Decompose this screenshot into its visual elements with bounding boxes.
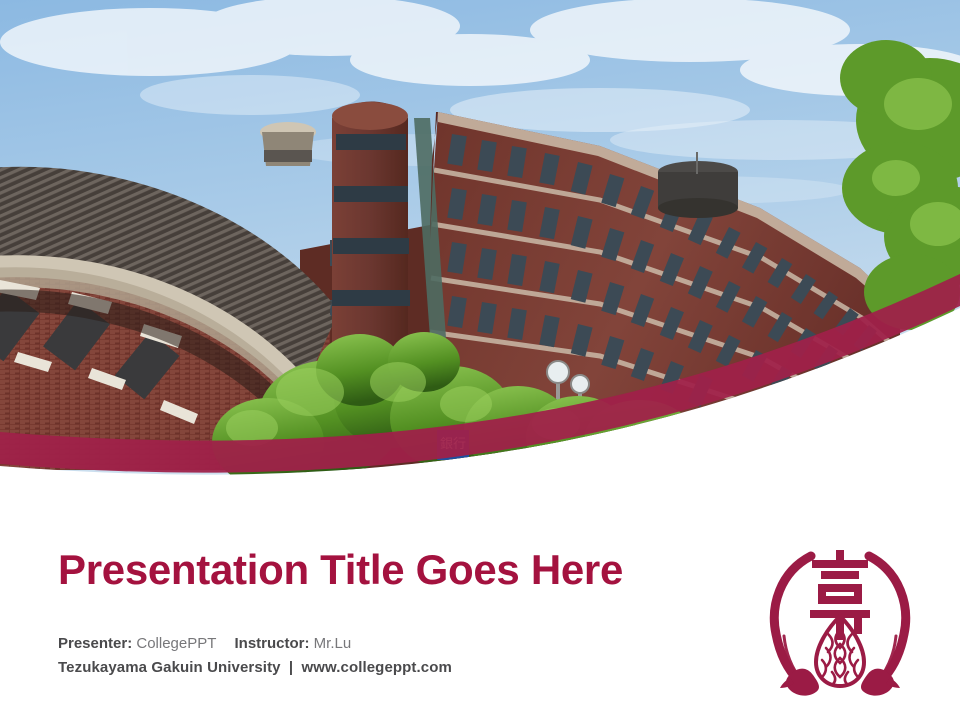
page-title: Presentation Title Goes Here — [58, 548, 698, 592]
instructor-label: Instructor: — [235, 635, 310, 652]
affiliation-line: Tezukayama Gakuin University | www.colle… — [58, 656, 698, 680]
presenter-label: Presenter: — [58, 635, 132, 652]
leaf-right-icon — [861, 669, 900, 696]
meta-separator: | — [285, 659, 297, 676]
university-logo — [766, 538, 914, 704]
kanji-tei-icon — [810, 550, 870, 640]
hero-photo: 銀行 — [0, 0, 960, 510]
balcony-cap — [260, 122, 316, 166]
leaf-left-icon — [780, 669, 819, 696]
title-block: Presentation Title Goes Here — [58, 548, 698, 592]
website-link[interactable]: www.collegeppt.com — [301, 659, 451, 676]
presenter-value: CollegePPT — [136, 635, 216, 652]
presentation-slide: 銀行 Presentation Title Goes Here Presente… — [0, 0, 960, 720]
presenter-line: Presenter: CollegePPT Instructor: Mr.Lu — [58, 632, 698, 656]
university-logo-svg — [766, 538, 914, 704]
university-name: Tezukayama Gakuin University — [58, 659, 281, 676]
presenter-info: Presenter: CollegePPT Instructor: Mr.Lu … — [58, 632, 698, 681]
hero-photo-svg: 銀行 — [0, 0, 960, 510]
instructor-value: Mr.Lu — [314, 635, 352, 652]
